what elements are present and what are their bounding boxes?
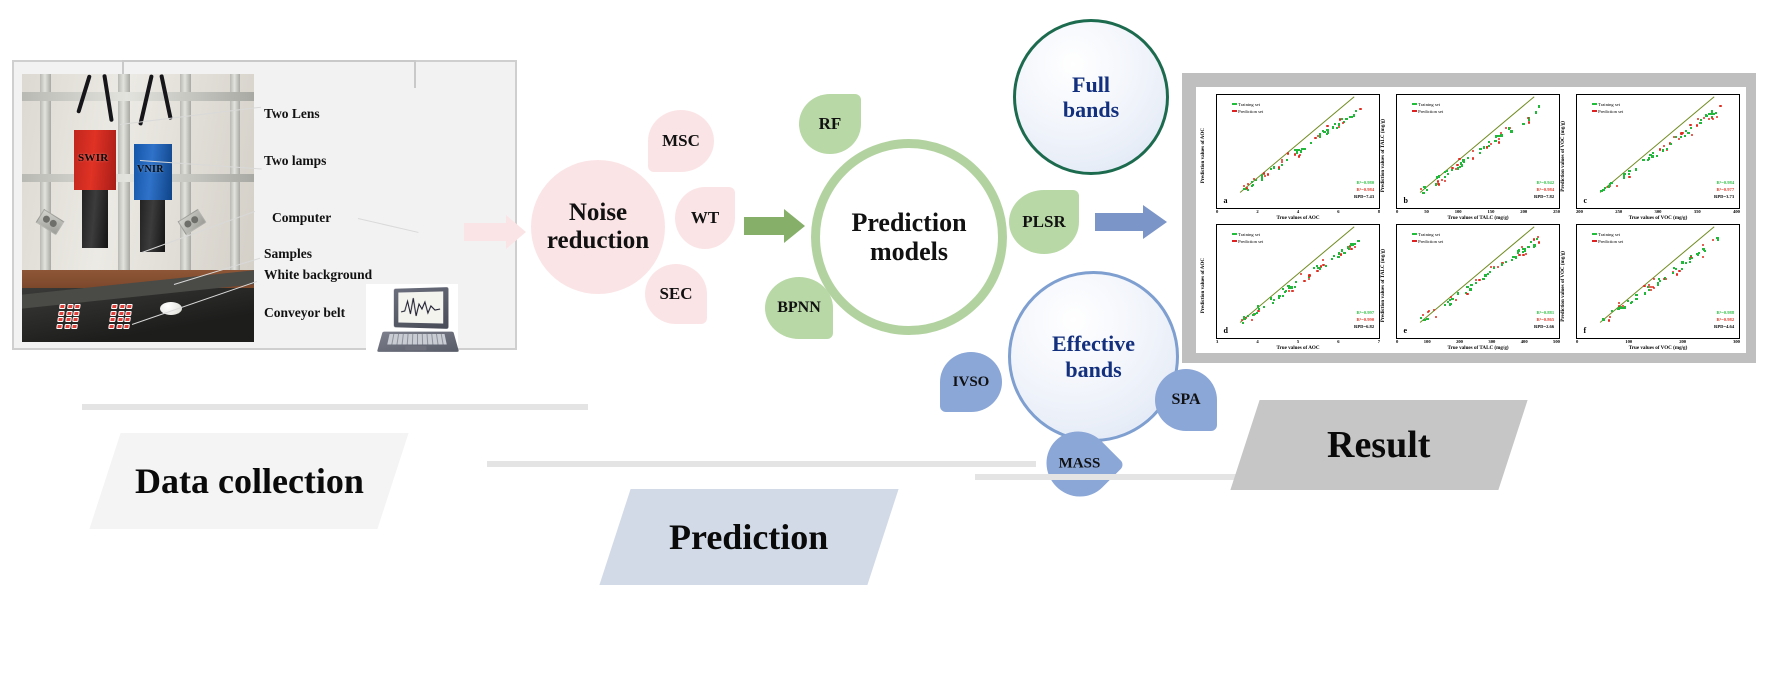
data-point-prediction (1490, 266, 1492, 268)
data-point-training (1331, 258, 1333, 260)
data-point-training (1611, 310, 1613, 312)
prediction-models-label-line2: models (851, 237, 966, 266)
data-point-prediction (1525, 253, 1527, 255)
data-point-prediction (1663, 278, 1665, 280)
data-point-prediction (1308, 278, 1310, 280)
stage-banner-result: Result (1230, 400, 1527, 490)
data-point-training (1282, 288, 1284, 290)
data-point-prediction (1716, 116, 1718, 118)
stage-label-prediction: Prediction (669, 516, 828, 558)
preprocessing-badge-sec[interactable]: SEC (645, 264, 707, 324)
data-point-prediction (1472, 158, 1474, 160)
data-point-training (1483, 146, 1485, 148)
data-point-prediction (1428, 310, 1430, 312)
effective-bands-node[interactable]: Effective bands (1008, 271, 1179, 442)
data-point-training (1247, 189, 1249, 191)
callout-conveyor-belt: Conveyor belt (264, 305, 345, 321)
data-point-prediction (1490, 143, 1492, 145)
data-point-prediction (1422, 314, 1424, 316)
legend-label: Prediction set (1418, 238, 1443, 245)
legend-swatch-prediction (1592, 240, 1597, 242)
plot-legend: Training setPrediction set (1592, 101, 1624, 115)
data-point-training (1647, 286, 1649, 288)
data-point-training (1313, 267, 1315, 269)
data-point-training (1255, 179, 1257, 181)
axes-wrapper: 86420Training setPrediction setR²=0.980R… (1216, 91, 1380, 221)
panel-letter: d (1223, 326, 1227, 335)
legend-swatch-prediction (1412, 240, 1417, 242)
data-point-prediction (1528, 121, 1530, 123)
arrow-head (784, 209, 805, 243)
stage-banner-prediction: Prediction (599, 489, 898, 585)
data-point-prediction (1288, 290, 1290, 292)
x-axis-label: True values of VOC (mg/g) (1576, 214, 1740, 221)
data-point-training (1353, 114, 1355, 116)
data-point-training (1438, 175, 1440, 177)
data-point-training (1295, 281, 1297, 283)
data-point-training (1699, 122, 1701, 124)
r2-prediction: R²=0.865 (1534, 317, 1554, 324)
data-point-prediction (1527, 117, 1529, 119)
data-point-training (1261, 174, 1263, 176)
axes-wrapper: 76543Training setPrediction setR²=0.997R… (1216, 221, 1380, 351)
axes-wrapper: 5004003002001000Training setPrediction s… (1396, 221, 1560, 351)
data-point-prediction (1437, 180, 1439, 182)
leader-line-computer (358, 218, 419, 233)
data-point-training (1713, 113, 1715, 115)
data-point-prediction (1433, 309, 1435, 311)
data-point-training (1610, 182, 1612, 184)
legend-swatch-training (1232, 103, 1237, 105)
y-tick-labels: 3002001000 (1576, 225, 1577, 338)
data-point-training (1522, 123, 1524, 125)
data-point-training (1685, 262, 1687, 264)
data-point-training (1623, 175, 1625, 177)
data-point-prediction (1497, 266, 1499, 268)
plot-statistics: R²=0.942R²=0.984RPD=7.82 (1534, 180, 1554, 201)
data-point-prediction (1616, 185, 1618, 187)
rpd-value: RPD=4.64 (1714, 324, 1734, 331)
data-point-training (1467, 157, 1469, 159)
data-point-training (1652, 152, 1654, 154)
result-figure-canvas: Prediction values of AOC86420Training se… (1196, 87, 1746, 353)
data-point-training (1499, 135, 1501, 137)
data-point-prediction (1478, 279, 1480, 281)
data-point-training (1466, 286, 1468, 288)
data-point-training (1243, 316, 1245, 318)
data-point-training (1700, 119, 1702, 121)
data-point-prediction (1264, 175, 1266, 177)
data-point-training (1463, 161, 1465, 163)
plot-statistics: R²=0.980R²=0.984RPD=7.43 (1354, 180, 1374, 201)
legend-swatch-training (1592, 233, 1597, 235)
laptop-keyboard (387, 334, 446, 344)
prediction-models-node[interactable]: Prediction models (811, 139, 1007, 335)
data-point-training (1422, 192, 1424, 194)
data-point-prediction (1303, 280, 1305, 282)
data-point-training (1530, 241, 1532, 243)
data-point-training (1332, 126, 1334, 128)
arrow-shaft (744, 217, 784, 235)
axes-wrapper: 3002001000Training setPrediction setR²=0… (1576, 221, 1740, 351)
y-tick-labels: 86420 (1216, 95, 1217, 208)
legend-entry: Prediction set (1232, 238, 1264, 245)
legend-entry: Training set (1232, 231, 1264, 238)
data-point-prediction (1359, 108, 1361, 110)
model-badge-plsr[interactable]: PLSR (1009, 190, 1079, 254)
legend-swatch-prediction (1232, 240, 1237, 242)
legend-label: Training set (1598, 101, 1620, 108)
data-point-training (1479, 148, 1481, 150)
data-point-training (1602, 318, 1604, 320)
bpnn-label: BPNN (777, 299, 821, 317)
arrow-noise-to-models (744, 209, 805, 243)
data-point-training (1278, 296, 1280, 298)
data-point-prediction (1678, 138, 1680, 140)
data-point-prediction (1702, 244, 1704, 246)
data-point-training (1690, 127, 1692, 129)
plot-column: 250200150100500Training setPrediction se… (1387, 91, 1560, 221)
data-point-prediction (1294, 153, 1296, 155)
legend-entry: Training set (1592, 101, 1624, 108)
data-point-training (1675, 268, 1677, 270)
legend-label: Training set (1598, 231, 1620, 238)
arrow-head (1143, 205, 1167, 239)
data-point-training (1680, 136, 1682, 138)
data-point-training (1600, 190, 1602, 192)
data-point-training (1522, 248, 1524, 250)
data-point-prediction (1257, 310, 1259, 312)
prediction-models-label-line1: Prediction (851, 208, 966, 237)
r2-training: R²=0.881 (1534, 310, 1554, 317)
band-selection-badge-ivso[interactable]: IVSO (940, 352, 1002, 412)
data-point-training (1353, 243, 1355, 245)
data-point-training (1624, 306, 1626, 308)
data-point-prediction (1475, 279, 1477, 281)
data-point-training (1469, 288, 1471, 290)
data-point-prediction (1322, 259, 1324, 261)
preprocessing-badge-msc[interactable]: MSC (648, 110, 714, 172)
legend-label: Training set (1238, 101, 1260, 108)
plot-statistics: R²=0.988R²=0.982RPD=4.64 (1714, 310, 1734, 331)
noise-reduction-label-line1: Noise (547, 199, 649, 227)
data-point-training (1254, 313, 1256, 315)
data-point-training (1257, 305, 1259, 307)
legend-swatch-training (1412, 103, 1417, 105)
wt-label: WT (691, 208, 719, 228)
data-point-prediction (1316, 270, 1318, 272)
stage-rule-data-collection (82, 404, 588, 410)
callout-samples: Samples (264, 246, 312, 262)
data-point-prediction (1719, 105, 1721, 107)
data-point-training (1426, 318, 1428, 320)
data-point-prediction (1354, 246, 1356, 248)
data-point-prediction (1322, 264, 1324, 266)
data-point-training (1251, 181, 1253, 183)
data-collection-photo-panel: SWIR VNIR Two Lens Two lamps Computer Sa… (12, 60, 517, 350)
callout-two-lens: Two Lens (264, 106, 320, 122)
stage-banner-data-collection: Data collection (89, 433, 408, 529)
full-bands-node[interactable]: Full bands (1013, 19, 1169, 175)
x-axis-label: True values of VOC (mg/g) (1576, 344, 1740, 351)
data-point-training (1662, 149, 1664, 151)
data-point-prediction (1247, 183, 1249, 185)
data-point-training (1333, 255, 1335, 257)
data-point-prediction (1299, 154, 1301, 156)
data-point-training (1488, 141, 1490, 143)
scatter-plot-e: Prediction values of TALC (mg/g)50040030… (1380, 221, 1560, 351)
rpd-value: RPD=3.73 (1714, 194, 1734, 201)
data-point-training (1475, 282, 1477, 284)
r2-prediction: R²=0.990 (1354, 317, 1374, 324)
data-point-training (1604, 187, 1606, 189)
data-point-training (1449, 303, 1451, 305)
data-point-training (1336, 127, 1338, 129)
data-point-training (1459, 166, 1461, 168)
legend-entry: Prediction set (1592, 108, 1624, 115)
panel-letter: f (1583, 326, 1586, 335)
data-point-training (1444, 176, 1446, 178)
r2-prediction: R²=0.984 (1534, 187, 1554, 194)
data-point-training (1334, 123, 1336, 125)
data-point-training (1681, 268, 1683, 270)
legend-swatch-training (1592, 103, 1597, 105)
panel-letter: b (1403, 196, 1407, 205)
data-point-training (1355, 110, 1357, 112)
legend-label: Prediction set (1598, 108, 1623, 115)
legend-entry: Prediction set (1412, 238, 1444, 245)
data-point-prediction (1659, 148, 1661, 150)
data-point-prediction (1643, 285, 1645, 287)
legend-entry: Training set (1412, 101, 1444, 108)
data-point-prediction (1691, 134, 1693, 136)
y-axis-label: Prediction values of AOC (1200, 258, 1206, 313)
data-point-training (1535, 112, 1537, 114)
x-axis-label: True values of AOC (1216, 344, 1380, 351)
plot-legend: Training setPrediction set (1412, 231, 1444, 245)
plot-axes: 76543Training setPrediction setR²=0.997R… (1216, 224, 1380, 339)
noise-reduction-label-line2: reduction (547, 227, 649, 255)
data-point-training (1273, 166, 1275, 168)
data-point-training (1261, 177, 1263, 179)
legend-label: Prediction set (1238, 238, 1263, 245)
rpd-value: RPD=6.82 (1354, 324, 1374, 331)
preprocessing-badge-wt[interactable]: WT (675, 187, 735, 249)
legend-swatch-training (1232, 233, 1237, 235)
data-point-prediction (1498, 138, 1500, 140)
data-point-training (1326, 133, 1328, 135)
model-badge-bpnn[interactable]: BPNN (765, 277, 833, 339)
data-point-training (1487, 273, 1489, 275)
r2-training: R²=0.988 (1714, 310, 1734, 317)
data-point-training (1338, 252, 1340, 254)
data-point-training (1533, 244, 1535, 246)
plot-legend: Training setPrediction set (1232, 101, 1264, 115)
panel-letter: a (1223, 196, 1227, 205)
data-point-training (1708, 113, 1710, 115)
legend-entry: Prediction set (1592, 238, 1624, 245)
data-point-prediction (1712, 239, 1714, 241)
data-point-training (1482, 278, 1484, 280)
data-point-prediction (1350, 248, 1352, 250)
plot-axes: 250200150100500Training setPrediction se… (1396, 94, 1560, 209)
data-point-training (1684, 135, 1686, 137)
data-point-training (1326, 129, 1328, 131)
data-point-training (1510, 130, 1512, 132)
data-point-training (1243, 188, 1245, 190)
data-point-training (1423, 319, 1425, 321)
y-axis-label: Prediction values of TALC (mg/g) (1380, 249, 1386, 322)
callout-computer: Computer (272, 210, 331, 226)
data-point-prediction (1308, 274, 1310, 276)
data-point-training (1627, 300, 1629, 302)
data-point-training (1515, 256, 1517, 258)
data-point-prediction (1251, 319, 1253, 321)
data-point-training (1310, 142, 1312, 144)
ivso-label: IVSO (953, 374, 990, 391)
data-point-training (1488, 145, 1490, 147)
data-point-training (1348, 248, 1350, 250)
rf-label: RF (819, 114, 842, 134)
data-point-training (1647, 159, 1649, 161)
plot-legend: Training setPrediction set (1592, 231, 1624, 245)
plot-column: 86420Training setPrediction setR²=0.980R… (1207, 91, 1380, 221)
data-point-prediction (1505, 127, 1507, 129)
sec-label: SEC (659, 284, 692, 304)
data-point-training (1479, 152, 1481, 154)
data-point-prediction (1340, 254, 1342, 256)
plot-column: 76543Training setPrediction setR²=0.997R… (1207, 221, 1380, 351)
data-point-training (1300, 150, 1302, 152)
rpd-value: RPD=7.82 (1534, 194, 1554, 201)
legend-label: Prediction set (1598, 238, 1623, 245)
arrow-shaft (1095, 213, 1143, 231)
data-point-training (1349, 116, 1351, 118)
legend-entry: Training set (1412, 231, 1444, 238)
data-point-training (1706, 115, 1708, 117)
plot-legend: Training setPrediction set (1412, 101, 1444, 115)
stage-label-data-collection: Data collection (135, 460, 364, 502)
data-point-prediction (1676, 273, 1678, 275)
data-point-training (1538, 105, 1540, 107)
data-point-prediction (1466, 293, 1468, 295)
data-point-training (1273, 299, 1275, 301)
data-point-prediction (1441, 179, 1443, 181)
data-point-prediction (1678, 270, 1680, 272)
data-point-training (1337, 256, 1339, 258)
data-point-training (1517, 252, 1519, 254)
x-axis-label: True values of AOC (1216, 214, 1380, 221)
data-point-prediction (1444, 180, 1446, 182)
data-point-training (1689, 261, 1691, 263)
full-bands-label-line1: Full (1063, 72, 1119, 97)
data-point-training (1635, 168, 1637, 170)
data-point-training (1341, 249, 1343, 251)
data-point-prediction (1696, 124, 1698, 126)
data-point-prediction (1702, 256, 1704, 258)
data-point-training (1513, 256, 1515, 258)
msc-label: MSC (662, 131, 700, 151)
frame-rail (40, 74, 51, 290)
plot-statistics: R²=0.984R²=0.977RPD=3.73 (1714, 180, 1734, 201)
data-point-training (1317, 267, 1319, 269)
data-point-training (1673, 267, 1675, 269)
data-point-training (1670, 143, 1672, 145)
legend-label: Training set (1238, 231, 1260, 238)
plot-statistics: R²=0.997R²=0.990RPD=6.82 (1354, 310, 1374, 331)
data-point-training (1716, 237, 1718, 239)
frame-rail (230, 74, 240, 290)
frame-rail (180, 74, 191, 290)
plot-legend: Training setPrediction set (1232, 231, 1264, 245)
callout-two-lamps: Two lamps (264, 153, 326, 169)
data-point-training (1659, 280, 1661, 282)
plot-axes: 86420Training setPrediction setR²=0.980R… (1216, 94, 1380, 209)
data-point-training (1325, 265, 1327, 267)
scatter-plot-d: Prediction values of AOC76543Training se… (1200, 221, 1380, 351)
panel-letter: e (1403, 326, 1407, 335)
data-point-prediction (1608, 319, 1610, 321)
result-figure-panel: Prediction values of AOC86420Training se… (1182, 73, 1756, 363)
data-point-prediction (1650, 286, 1652, 288)
plot-statistics: R²=0.881R²=0.865RPD=2.66 (1534, 310, 1554, 331)
data-point-prediction (1455, 299, 1457, 301)
computer-laptop (366, 284, 458, 376)
data-point-training (1656, 155, 1658, 157)
legend-label: Prediction set (1418, 108, 1443, 115)
plot-axes: 5004003002001000Training setPrediction s… (1396, 224, 1560, 339)
data-point-prediction (1537, 236, 1539, 238)
effective-bands-label-line1: Effective (1052, 331, 1135, 356)
data-point-prediction (1278, 166, 1280, 168)
data-point-prediction (1287, 152, 1289, 154)
arrow-head (506, 215, 526, 249)
data-point-training (1672, 272, 1674, 274)
data-point-prediction (1680, 132, 1682, 134)
data-point-training (1636, 294, 1638, 296)
callout-white-background: White background (264, 267, 372, 283)
sample-tray-right (108, 304, 132, 329)
band-selection-badge-spa[interactable]: SPA (1155, 369, 1217, 431)
data-point-prediction (1628, 176, 1630, 178)
plot-axes: 3002001000Training setPrediction setR²=0… (1576, 224, 1740, 339)
legend-swatch-prediction (1232, 110, 1237, 112)
data-point-prediction (1538, 241, 1540, 243)
data-point-training (1657, 284, 1659, 286)
data-point-training (1451, 298, 1453, 300)
r2-training: R²=0.997 (1354, 310, 1374, 317)
data-point-training (1294, 149, 1296, 151)
data-point-prediction (1326, 125, 1328, 127)
laptop-screen (394, 287, 449, 329)
r2-training: R²=0.942 (1534, 180, 1554, 187)
legend-entry: Training set (1232, 101, 1264, 108)
y-tick-labels: 4003002001000 (1576, 95, 1577, 208)
data-point-prediction (1267, 173, 1269, 175)
data-point-training (1286, 159, 1288, 161)
data-point-training (1281, 164, 1283, 166)
data-point-training (1270, 168, 1272, 170)
legend-label: Prediction set (1238, 108, 1263, 115)
data-point-training (1345, 118, 1347, 120)
data-point-training (1457, 292, 1459, 294)
data-point-training (1642, 159, 1644, 161)
hyperspectral-rig-photo: SWIR VNIR (22, 74, 254, 342)
data-point-training (1522, 251, 1524, 253)
y-tick-labels: 76543 (1216, 225, 1217, 338)
frame-rail (118, 74, 130, 290)
model-badge-rf[interactable]: RF (799, 94, 861, 154)
